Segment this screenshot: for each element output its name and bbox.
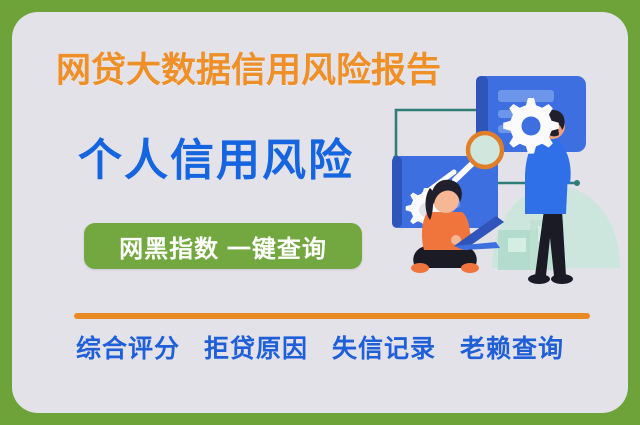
banner-inner-panel: 网贷大数据信用风险报告 个人信用风险 网黑指数 一键查询 综合评分 拒贷原因 失… [12,12,628,413]
keyword-item-deadbeat-query[interactable]: 老赖查询 [460,329,564,365]
query-cta-label: 网黑指数 一键查询 [119,229,327,264]
section-divider [74,313,590,319]
subtitle-heading: 个人信用风险 [78,135,354,187]
gear-white-large-icon [503,98,559,154]
credit-report-illustration [380,60,628,310]
keyword-list: 综合评分 拒贷原因 失信记录 老赖查询 [12,329,628,365]
keyword-item-reject-reason[interactable]: 拒贷原因 [204,329,308,365]
query-cta-button[interactable]: 网黑指数 一键查询 [84,223,362,269]
promo-banner: 网贷大数据信用风险报告 个人信用风险 网黑指数 一键查询 综合评分 拒贷原因 失… [0,0,640,425]
keyword-item-score[interactable]: 综合评分 [76,329,180,365]
keyword-item-default-record[interactable]: 失信记录 [332,329,436,365]
